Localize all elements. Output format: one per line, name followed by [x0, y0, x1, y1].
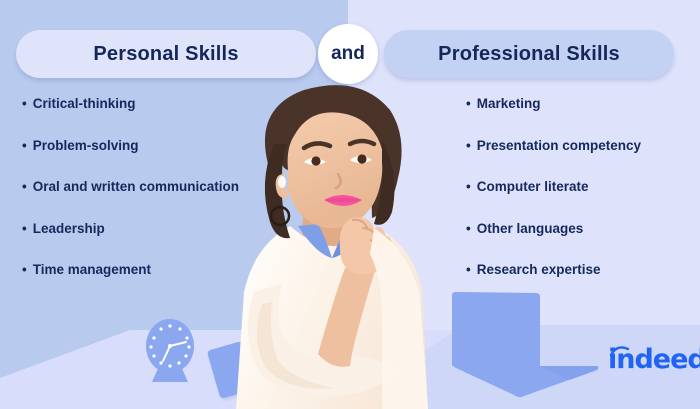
bullet-icon: • [22, 221, 27, 237]
bullet-icon: • [466, 96, 471, 112]
list-item-label: Computer literate [477, 179, 589, 195]
personal-skills-list: • Critical-thinking • Problem-solving • … [22, 96, 292, 304]
professional-skills-title: Professional Skills [438, 43, 620, 66]
list-item-label: Other languages [477, 221, 584, 237]
desk-clock-illustration [138, 318, 202, 386]
list-item-label: Problem-solving [33, 138, 139, 154]
laptop-illustration [448, 292, 610, 400]
list-item: • Leadership [22, 221, 292, 237]
infographic-canvas: Personal Skills Professional Skills and … [0, 0, 700, 409]
personal-skills-title: Personal Skills [93, 43, 238, 66]
bullet-icon: • [466, 179, 471, 195]
list-item: • Research expertise [466, 262, 691, 278]
list-item: • Computer literate [466, 179, 691, 195]
list-item: • Oral and written communication [22, 179, 292, 195]
list-item-label: Marketing [477, 96, 541, 112]
bullet-icon: • [22, 179, 27, 195]
list-item-label: Leadership [33, 221, 105, 237]
indeed-logo: indeed [608, 343, 692, 377]
list-item: • Critical-thinking [22, 96, 292, 112]
list-item: • Presentation competency [466, 138, 691, 154]
list-item: • Problem-solving [22, 138, 292, 154]
and-connector-badge: and [318, 24, 378, 84]
bullet-icon: • [22, 138, 27, 154]
bullet-icon: • [466, 138, 471, 154]
personal-skills-header: Personal Skills [16, 30, 316, 78]
list-item-label: Critical-thinking [33, 96, 136, 112]
list-item-label: Oral and written communication [33, 179, 239, 195]
bullet-icon: • [22, 262, 27, 278]
professional-skills-list: • Marketing • Presentation competency • … [466, 96, 691, 304]
and-label: and [331, 43, 365, 65]
list-item: • Time management [22, 262, 292, 278]
bullet-icon: • [22, 96, 27, 112]
bullet-icon: • [466, 221, 471, 237]
list-item-label: Presentation competency [477, 138, 641, 154]
list-item-label: Research expertise [477, 262, 601, 278]
list-item: • Other languages [466, 221, 691, 237]
bullet-icon: • [466, 262, 471, 278]
list-item: • Marketing [466, 96, 691, 112]
professional-skills-header: Professional Skills [384, 30, 674, 78]
list-item-label: Time management [33, 262, 151, 278]
